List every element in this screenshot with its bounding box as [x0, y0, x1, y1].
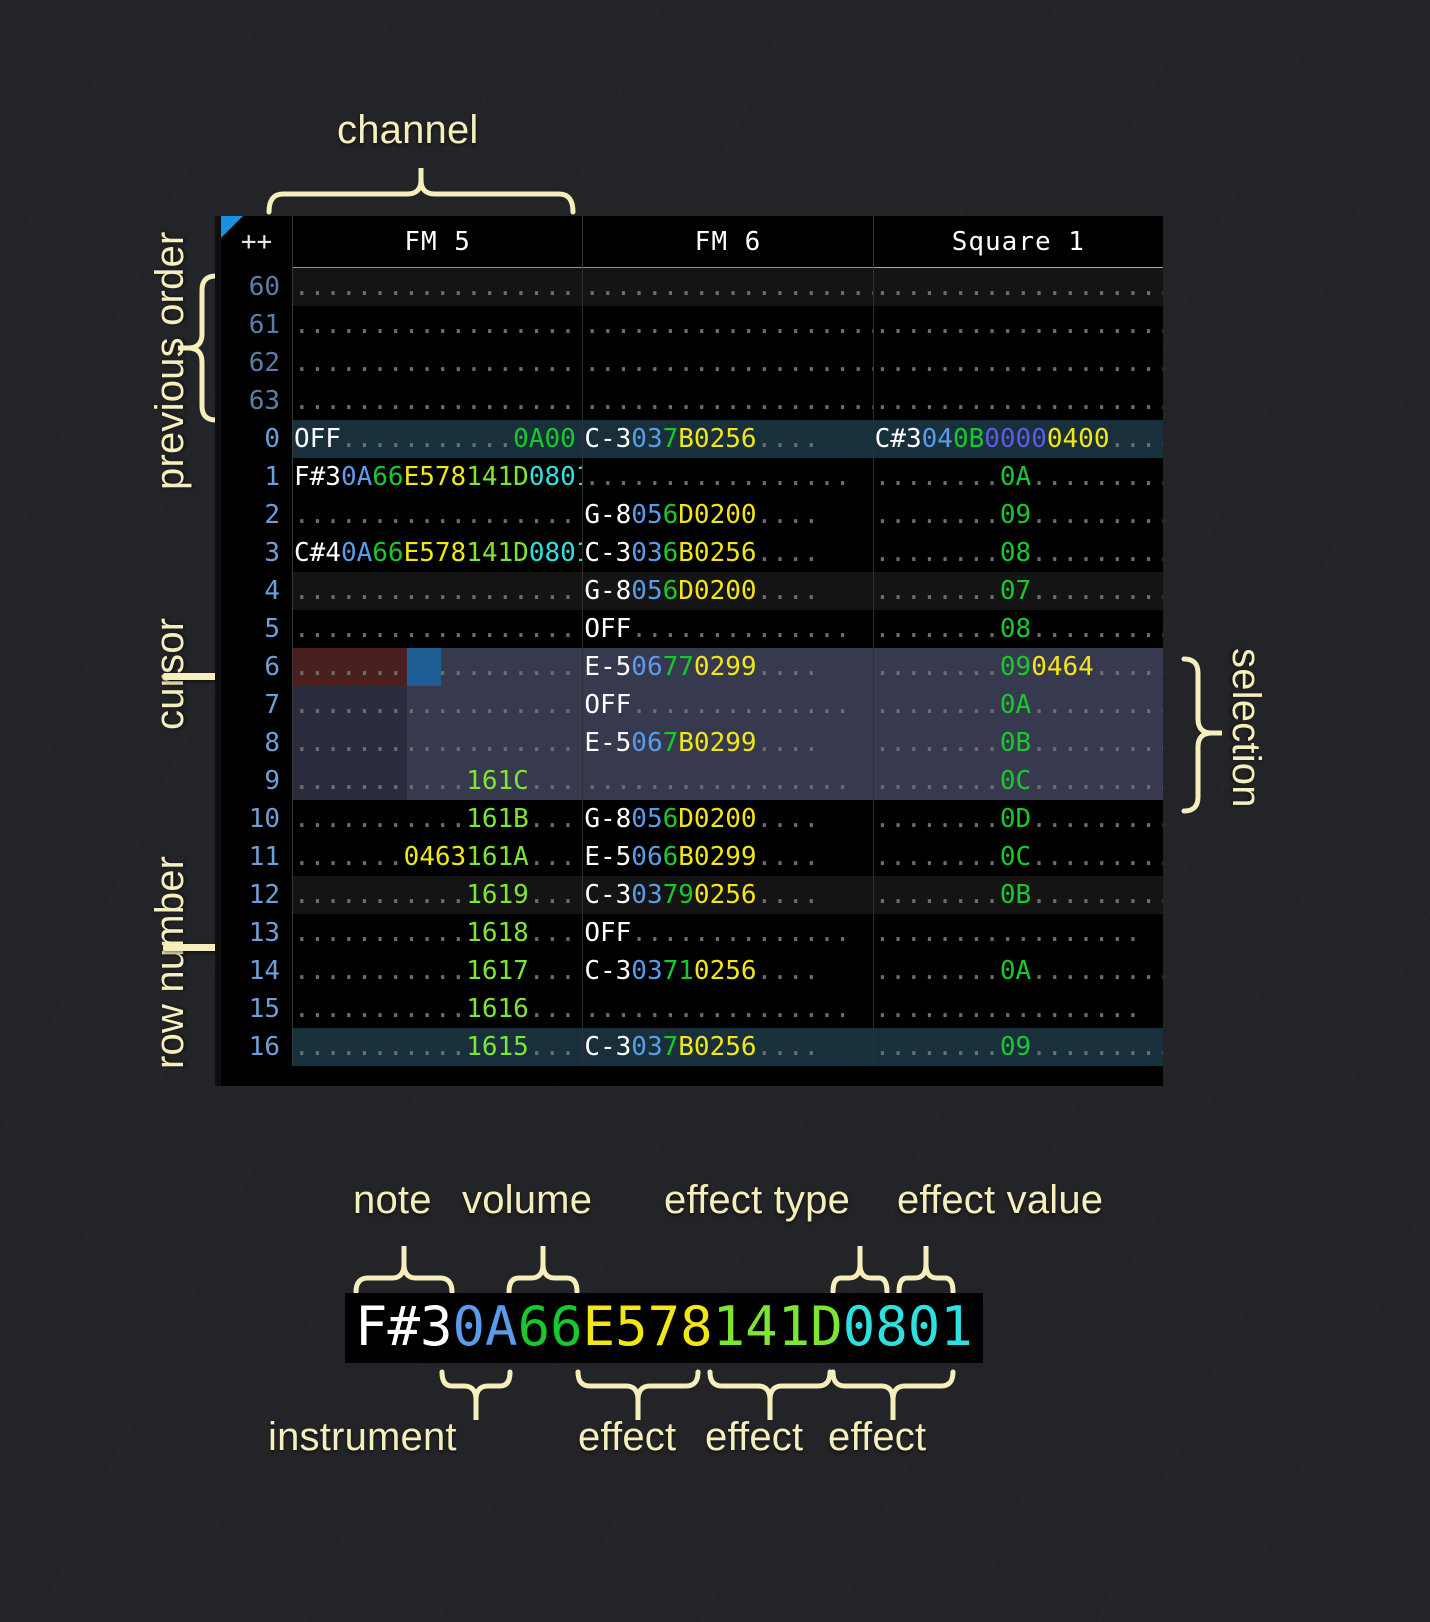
cell-dots: .....................: [294, 500, 583, 530]
legend-effect1-type: E5: [583, 1295, 648, 1358]
row-number-cell: 6: [221, 648, 293, 686]
cell-dots: ........: [875, 576, 1000, 606]
row-number-cell: 14: [221, 952, 293, 990]
pattern-row[interactable]: 63......................................…: [221, 382, 1163, 420]
pattern-cell[interactable]: ........0C..........: [874, 838, 1163, 876]
pattern-row[interactable]: 60......................................…: [221, 268, 1163, 306]
pattern-cell[interactable]: OFF..............: [583, 914, 873, 952]
pattern-row[interactable]: 2.....................G-8056D0200.......…: [221, 496, 1163, 534]
pattern-rows[interactable]: 60......................................…: [221, 268, 1163, 1066]
pattern-cell[interactable]: .......0463161A....: [293, 838, 583, 876]
pattern-cell[interactable]: C-303790256....: [583, 876, 873, 914]
cell-token: 1615: [466, 1032, 529, 1062]
cell-token: C-3: [584, 424, 631, 454]
cell-token: C#3: [875, 424, 922, 454]
pattern-cell[interactable]: ........0B..........: [874, 724, 1163, 762]
cell-token: OFF: [584, 614, 631, 644]
cell-dots: ..............: [631, 614, 850, 644]
empty-cell-dots: .....................: [584, 310, 873, 340]
pattern-cell[interactable]: C#3040B00000400....: [874, 420, 1163, 458]
pattern-cell-legend: F#30A66E578141D0801: [345, 1293, 983, 1363]
pattern-row[interactable]: 1F#30A66E578141D0801....................…: [221, 458, 1163, 496]
cell-token: E-5: [584, 652, 631, 682]
cell-token: 66: [372, 462, 403, 492]
pattern-row[interactable]: 11.......0463161A....E-5066B0299........…: [221, 838, 1163, 876]
pattern-cell[interactable]: OFF...........0A00: [293, 420, 583, 458]
cell-token: 0B: [953, 424, 984, 454]
cell-token: 0463: [404, 842, 467, 872]
cell-token: 09: [1000, 500, 1031, 530]
channel-name: FM 6: [695, 223, 762, 261]
cell-token: 7: [663, 1032, 679, 1062]
cell-dots: ....: [529, 918, 584, 948]
cell-token: 71: [663, 956, 694, 986]
pattern-cell[interactable]: G-8056D0200....: [583, 496, 873, 534]
cell-token: 0000: [984, 424, 1047, 454]
cell-dots: .....................: [294, 690, 583, 720]
cell-dots: ........: [875, 538, 1000, 568]
cell-token: 06: [631, 728, 662, 758]
cell-dots: ....: [757, 424, 820, 454]
row-number-cell: 5: [221, 610, 293, 648]
cell-token: 07: [1000, 576, 1031, 606]
volume-brace-top: [505, 1246, 581, 1296]
cell-dots: ....: [529, 766, 584, 796]
pattern-cell[interactable]: .....................: [874, 306, 1163, 344]
pattern-cell[interactable]: C-3037B0256....: [583, 1028, 873, 1066]
cell-token: 161A: [466, 842, 529, 872]
cell-dots: ........: [875, 652, 1000, 682]
cell-token: G-8: [584, 576, 631, 606]
cell-dots: ...........: [294, 956, 466, 986]
cell-token: 6: [663, 576, 679, 606]
cell-dots: ...........: [294, 804, 466, 834]
legend-effect2: 141D: [713, 1295, 843, 1358]
cell-dots: ....: [529, 880, 584, 910]
pattern-cell[interactable]: .................: [874, 914, 1163, 952]
pattern-row[interactable]: 4.....................G-8056D0200.......…: [221, 572, 1163, 610]
selection-brace: [1178, 655, 1222, 815]
cell-token: 1618: [466, 918, 529, 948]
cell-token: 0A: [1000, 462, 1031, 492]
cell-dots: ..........: [1031, 500, 1163, 530]
effect-value-brace-top: [895, 1246, 957, 1296]
row-number-cell: 2: [221, 496, 293, 534]
legend-effect1-value: 78: [648, 1295, 713, 1358]
pattern-cell[interactable]: .....................: [874, 268, 1163, 306]
pattern-cell[interactable]: F#30A66E578141D0801: [293, 458, 583, 496]
legend-note: F#3: [355, 1295, 453, 1358]
cell-token: C-3: [584, 880, 631, 910]
cell-token: 77: [663, 652, 694, 682]
pattern-cell[interactable]: ........07..........: [874, 572, 1163, 610]
pattern-cell[interactable]: OFF..............: [583, 686, 873, 724]
channel-header-square1[interactable]: Square 1: [874, 216, 1163, 268]
cell-token: 161B: [466, 804, 529, 834]
cell-dots: .....................: [294, 728, 583, 758]
cell-token: 141D: [466, 538, 529, 568]
row-number-cell: 62: [221, 344, 293, 382]
cell-dots: ..........: [1031, 462, 1163, 492]
cell-token: F#3: [294, 462, 341, 492]
cell-token: 0400: [1047, 424, 1110, 454]
cell-token: 0B: [1000, 880, 1031, 910]
pattern-cell[interactable]: ........0C..........: [874, 762, 1163, 800]
cell-token: 06: [631, 652, 662, 682]
corner-label: ++: [241, 223, 272, 261]
annotation-volume: volume: [462, 1178, 592, 1223]
annotation-effect-type: effect type: [664, 1178, 850, 1223]
pattern-cell[interactable]: .....................: [293, 382, 583, 420]
pattern-cell[interactable]: .....................: [874, 382, 1163, 420]
cell-token: B0299: [678, 842, 756, 872]
annotation-row-number: row number: [148, 856, 193, 1069]
channel-brace: [265, 168, 577, 216]
pattern-row[interactable]: 3C#40A66E578141D0801C-3036B0256.........…: [221, 534, 1163, 572]
cell-dots: ..........: [1031, 538, 1163, 568]
cell-dots: ........: [875, 462, 1000, 492]
cell-token: 0801: [529, 538, 583, 568]
pattern-cell[interactable]: E-506770299....: [583, 648, 873, 686]
pattern-row[interactable]: 8.....................E-5067B0299.......…: [221, 724, 1163, 762]
cell-token: 09: [1000, 652, 1031, 682]
annotation-effect-c: effect: [828, 1415, 926, 1460]
pattern-row[interactable]: 10...........161B....G-8056D0200........…: [221, 800, 1163, 838]
cell-token: 03: [631, 538, 662, 568]
legend-volume: 66: [518, 1295, 583, 1358]
channel-name: FM 5: [404, 223, 471, 261]
cell-dots: .................: [584, 766, 850, 796]
legend-instrument: 0A: [453, 1295, 518, 1358]
cell-dots: ........: [875, 614, 1000, 644]
cell-token: C#4: [294, 538, 341, 568]
pattern-cell[interactable]: .................: [583, 990, 873, 1028]
pattern-row[interactable]: 14...........1617....C-303710256........…: [221, 952, 1163, 990]
pattern-row[interactable]: 0OFF...........0A00C-3037B0256....C#3040…: [221, 420, 1163, 458]
cell-token: G-8: [584, 804, 631, 834]
cell-dots: ....: [529, 994, 584, 1024]
cell-dots: ..............: [631, 690, 850, 720]
cell-dots: .....................: [294, 576, 583, 606]
pattern-cell[interactable]: C-3036B0256....: [583, 534, 873, 572]
pattern-cell[interactable]: ........08..........: [874, 534, 1163, 572]
pattern-cell[interactable]: ........0A..........: [874, 458, 1163, 496]
row-number-cell: 10: [221, 800, 293, 838]
pattern-cell[interactable]: .....................: [293, 610, 583, 648]
cell-dots: ....: [757, 1032, 820, 1062]
cell-dots: ....: [757, 538, 820, 568]
cell-dots: ........: [875, 880, 1000, 910]
cell-token: 161C: [466, 766, 529, 796]
row-number-cell: 63: [221, 382, 293, 420]
cell-dots: .....................: [294, 614, 583, 644]
cell-dots: ....: [757, 652, 820, 682]
pattern-cell[interactable]: .....................: [293, 496, 583, 534]
pattern-cell[interactable]: E-5067B0299....: [583, 724, 873, 762]
cell-dots: ........: [875, 804, 1000, 834]
cell-dots: ...........: [294, 994, 466, 1024]
cell-dots: ...........: [294, 766, 466, 796]
row-number-cell: 13: [221, 914, 293, 952]
cell-dots: ........: [875, 500, 1000, 530]
cell-dots: ....: [529, 956, 584, 986]
pattern-cell[interactable]: .................: [874, 990, 1163, 1028]
cell-token: 0299: [694, 652, 757, 682]
note-brace-top: [352, 1246, 456, 1296]
cell-token: 66: [372, 538, 403, 568]
pattern-cell[interactable]: ........090464......: [874, 648, 1163, 686]
cursor-box[interactable]: [407, 648, 441, 686]
empty-cell-dots: .....................: [294, 386, 583, 416]
cell-token: 0464: [1031, 652, 1094, 682]
pattern-row[interactable]: 5.....................OFF...............…: [221, 610, 1163, 648]
cell-token: 7: [663, 424, 679, 454]
pattern-cell[interactable]: .....................: [583, 382, 873, 420]
cell-dots: ....: [757, 804, 820, 834]
cell-dots: ....: [529, 842, 584, 872]
cell-token: 0801: [529, 462, 583, 492]
annotation-selection: selection: [1223, 648, 1268, 808]
cell-dots: ..........: [1031, 956, 1163, 986]
effect-c-brace-bottom: [829, 1368, 957, 1420]
row-number-cell: 61: [221, 306, 293, 344]
annotation-note: note: [353, 1178, 432, 1223]
cell-token: B0256: [678, 1032, 756, 1062]
pattern-row[interactable]: 13...........1618....OFF................…: [221, 914, 1163, 952]
cell-token: 7: [663, 728, 679, 758]
pattern-cell[interactable]: G-8056D0200....: [583, 800, 873, 838]
cell-dots: ....: [757, 956, 820, 986]
cell-token: 05: [631, 576, 662, 606]
cell-dots: ........: [875, 842, 1000, 872]
row-number-cell: 11: [221, 838, 293, 876]
row-number-cell: 1: [221, 458, 293, 496]
pattern-cell[interactable]: ...........1615....: [293, 1028, 583, 1066]
cell-token: D0200: [678, 804, 756, 834]
effect-a-brace-bottom: [574, 1368, 702, 1420]
annotation-instrument: instrument: [268, 1415, 457, 1460]
cell-dots: .................: [584, 994, 850, 1024]
empty-cell-dots: .....................: [875, 272, 1163, 302]
annotation-channel: channel: [337, 108, 479, 153]
channel-name: Square 1: [952, 223, 1085, 261]
cell-token: 05: [631, 804, 662, 834]
row-number-cell: 9: [221, 762, 293, 800]
pattern-row[interactable]: 9...........161C........................…: [221, 762, 1163, 800]
annotation-effect-b: effect: [705, 1415, 803, 1460]
cell-token: 1619: [466, 880, 529, 910]
empty-cell-dots: .....................: [584, 272, 873, 302]
pattern-cell[interactable]: ...........1617....: [293, 952, 583, 990]
cell-token: 03: [631, 1032, 662, 1062]
cell-dots: ......: [1094, 652, 1163, 682]
empty-cell-dots: .....................: [875, 386, 1163, 416]
cell-token: 79: [663, 880, 694, 910]
cell-dots: ..........: [1031, 766, 1163, 796]
empty-cell-dots: .....................: [584, 386, 873, 416]
row-number-cell: 8: [221, 724, 293, 762]
pattern-row[interactable]: 16...........1615....C-3037B0256........…: [221, 1028, 1163, 1066]
cell-dots: ..........: [1031, 728, 1163, 758]
pattern-cell[interactable]: .....................: [293, 572, 583, 610]
pattern-cell[interactable]: .....................: [293, 344, 583, 382]
pattern-cell[interactable]: ........0A..........: [874, 952, 1163, 990]
cell-token: D0200: [678, 500, 756, 530]
pattern-cell[interactable]: ........0B..........: [874, 876, 1163, 914]
cell-token: E-5: [584, 728, 631, 758]
pattern-cell[interactable]: ........09..........: [874, 1028, 1163, 1066]
pattern-cell[interactable]: .....................: [583, 306, 873, 344]
cell-dots: .................: [584, 462, 850, 492]
cell-token: C-3: [584, 1032, 631, 1062]
row-number-cell: 7: [221, 686, 293, 724]
cell-dots: .......: [294, 842, 404, 872]
pattern-row[interactable]: 62......................................…: [221, 344, 1163, 382]
pattern-cell[interactable]: ........08..........: [874, 610, 1163, 648]
cell-token: 0B: [1000, 728, 1031, 758]
pattern-cell[interactable]: C-303710256....: [583, 952, 873, 990]
pattern-cell[interactable]: .....................: [583, 344, 873, 382]
cell-token: 0A: [1000, 690, 1031, 720]
pattern-cell[interactable]: E-5066B0299....: [583, 838, 873, 876]
cell-dots: ..........: [1031, 842, 1163, 872]
row-number-cell: 15: [221, 990, 293, 1028]
pattern-cell[interactable]: .....................: [293, 268, 583, 306]
cell-token: B0256: [678, 538, 756, 568]
row-number-cell: 3: [221, 534, 293, 572]
annotation-effect-a: effect: [578, 1415, 676, 1460]
cell-token: 03: [631, 424, 662, 454]
legend-effect3: 0801: [843, 1295, 973, 1358]
cell-token: E578: [404, 462, 467, 492]
cell-token: 08: [1000, 614, 1031, 644]
cell-dots: ....: [529, 804, 584, 834]
cell-token: 08: [1000, 538, 1031, 568]
cell-token: 6: [663, 538, 679, 568]
row-number-cell: 60: [221, 268, 293, 306]
pattern-row[interactable]: 7.....................OFF...............…: [221, 686, 1163, 724]
pattern-cell[interactable]: ...........1619....: [293, 876, 583, 914]
pattern-row[interactable]: 6.....................E-506770299.......…: [221, 648, 1163, 686]
cell-dots: ...........: [294, 1032, 466, 1062]
row-number-cell: 12: [221, 876, 293, 914]
cell-token: 0A: [1000, 956, 1031, 986]
pattern-cell[interactable]: C#40A66E578141D0801: [293, 534, 583, 572]
pattern-cell[interactable]: ...........161C....: [293, 762, 583, 800]
cell-token: OFF: [584, 690, 631, 720]
cell-token: 09: [1000, 1032, 1031, 1062]
cell-token: 03: [631, 956, 662, 986]
pattern-cell[interactable]: ........09..........: [874, 496, 1163, 534]
pattern-cell[interactable]: G-8056D0200....: [583, 572, 873, 610]
cell-token: B0256: [678, 424, 756, 454]
empty-cell-dots: .....................: [294, 310, 583, 340]
cell-dots: ........: [875, 1032, 1000, 1062]
cell-token: OFF: [584, 918, 631, 948]
effect-type-brace-top: [829, 1246, 891, 1296]
instrument-brace-bottom: [438, 1368, 514, 1420]
cell-dots: ........: [875, 690, 1000, 720]
cell-token: E-5: [584, 842, 631, 872]
cell-token: C-3: [584, 538, 631, 568]
pattern-cell[interactable]: ...........1616....: [293, 990, 583, 1028]
cell-dots: ....: [757, 842, 820, 872]
cell-token: 0C: [1000, 842, 1031, 872]
cell-dots: ...........: [294, 880, 466, 910]
pattern-cell[interactable]: C-3037B0256....: [583, 420, 873, 458]
cell-dots: ..........: [1031, 1032, 1163, 1062]
empty-cell-dots: .....................: [294, 272, 583, 302]
cell-dots: ........: [875, 766, 1000, 796]
pattern-cell[interactable]: .....................: [293, 306, 583, 344]
row-number-cell: 16: [221, 1028, 293, 1066]
pattern-cell[interactable]: .................: [583, 458, 873, 496]
pattern-row[interactable]: 61......................................…: [221, 306, 1163, 344]
cell-dots: ....: [757, 500, 820, 530]
cell-token: G-8: [584, 500, 631, 530]
pattern-cell[interactable]: ........0D..........: [874, 800, 1163, 838]
row-number-cell: 4: [221, 572, 293, 610]
cell-token: 0D: [1000, 804, 1031, 834]
pattern-cell[interactable]: ...........161B....: [293, 800, 583, 838]
cell-token: OFF: [294, 424, 341, 454]
cell-dots: ..........: [1031, 880, 1163, 910]
cell-token: D0200: [678, 576, 756, 606]
cell-dots: .................: [875, 994, 1141, 1024]
corner-triangle-icon: [221, 216, 243, 238]
cell-dots: ........: [875, 728, 1000, 758]
pattern-cell[interactable]: OFF..............: [583, 610, 873, 648]
pattern-cell[interactable]: ........0A..........: [874, 686, 1163, 724]
cell-token: 141D: [466, 462, 529, 492]
cell-token: 6: [663, 500, 679, 530]
cell-token: 6: [663, 804, 679, 834]
pattern-row[interactable]: 15...........1616.......................…: [221, 990, 1163, 1028]
cell-dots: ..........: [1031, 690, 1163, 720]
empty-cell-dots: .....................: [584, 348, 873, 378]
pattern-cell[interactable]: ...........1618....: [293, 914, 583, 952]
cell-dots: .................: [875, 918, 1141, 948]
cell-token: C-3: [584, 956, 631, 986]
pattern-cell[interactable]: .................: [583, 762, 873, 800]
cell-token: B0299: [678, 728, 756, 758]
pattern-row[interactable]: 12...........1619....C-303790256........…: [221, 876, 1163, 914]
cell-dots: ....: [757, 576, 820, 606]
cell-dots: ....: [757, 728, 820, 758]
pattern-cell[interactable]: .....................: [293, 686, 583, 724]
cell-dots: ...........: [294, 918, 466, 948]
cell-token: 0A: [341, 538, 372, 568]
cell-token: 1617: [466, 956, 529, 986]
pattern-editor[interactable]: ++ FM 5 FM 6 Square 1 60................…: [215, 216, 1163, 1086]
pattern-cell[interactable]: .....................: [874, 344, 1163, 382]
empty-cell-dots: .....................: [294, 348, 583, 378]
channel-header-fm6[interactable]: FM 6: [583, 216, 873, 268]
cell-token: 0A00: [513, 424, 576, 454]
empty-cell-dots: .....................: [875, 310, 1163, 340]
row-number-cell: 0: [221, 420, 293, 458]
cell-dots: ....: [757, 880, 820, 910]
channel-header-fm5[interactable]: FM 5: [293, 216, 583, 268]
annotation-effect-value: effect value: [897, 1178, 1103, 1223]
pattern-corner-cell[interactable]: ++: [221, 216, 293, 268]
cell-token: 1616: [466, 994, 529, 1024]
cell-token: 06: [631, 842, 662, 872]
cell-token: 0C: [1000, 766, 1031, 796]
cell-dots: ....: [529, 1032, 584, 1062]
pattern-cell[interactable]: .....................: [583, 268, 873, 306]
pattern-cell[interactable]: .....................: [293, 724, 583, 762]
